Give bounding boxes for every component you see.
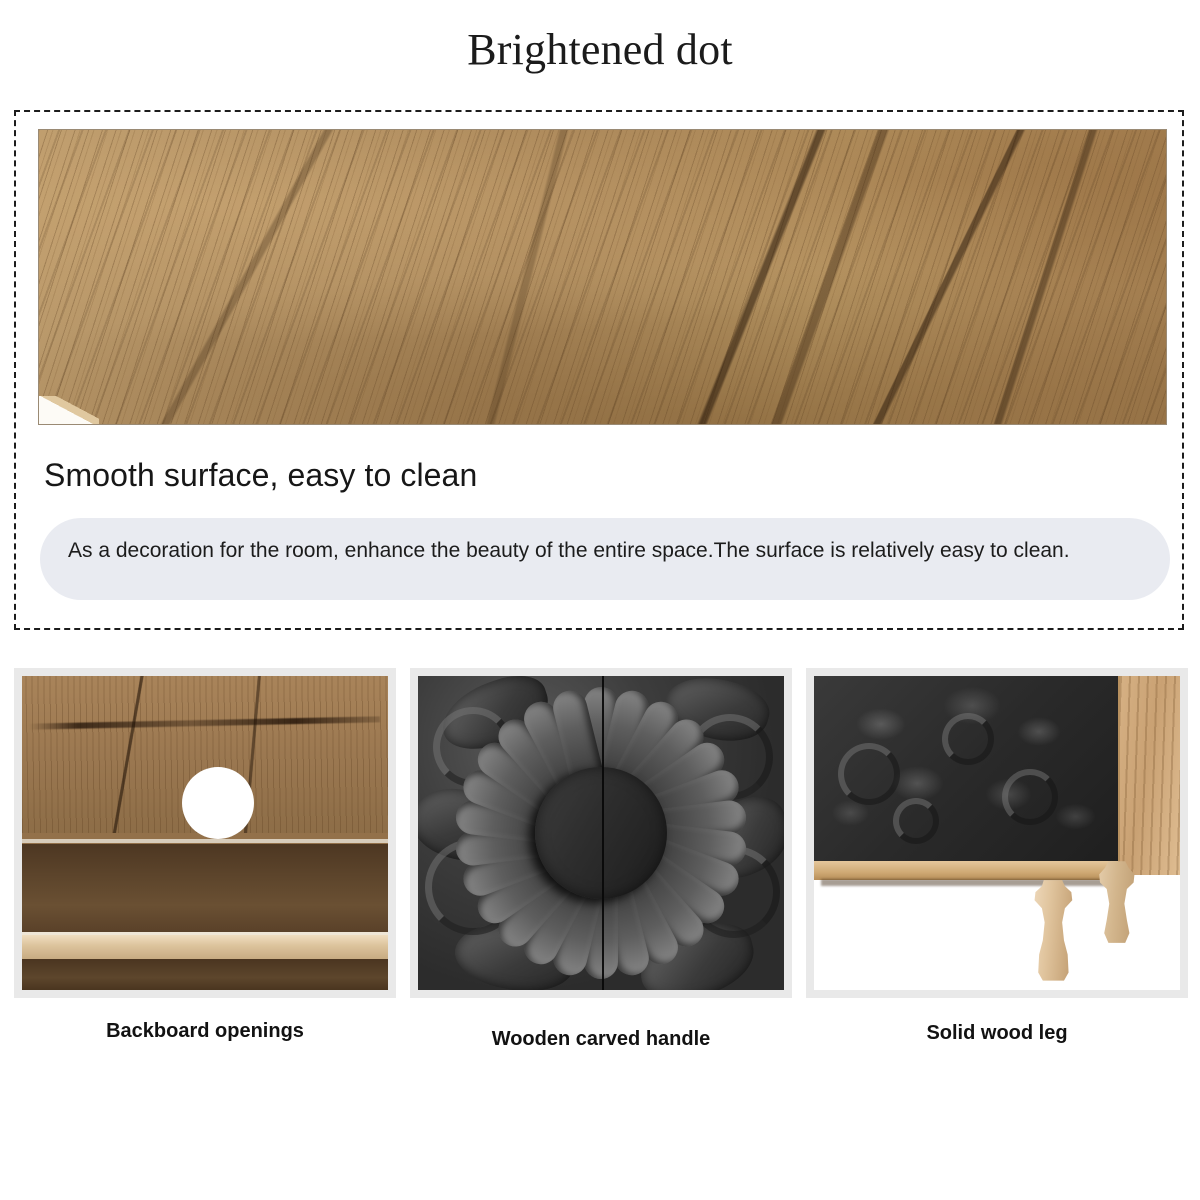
feature-heading: Smooth surface, easy to clean bbox=[44, 457, 477, 494]
cabinet-bottom-lip bbox=[814, 861, 1118, 880]
detail-card-wooden-carved-handle: Wooden carved handle bbox=[410, 668, 792, 1068]
carved-scroll-icon bbox=[838, 743, 900, 805]
cabinet-corner-scene bbox=[814, 676, 1180, 990]
hero-wood-image bbox=[38, 129, 1167, 425]
detail-card-solid-wood-leg: Solid wood leg bbox=[806, 668, 1188, 1068]
light-wood-shelf-edge bbox=[22, 932, 388, 959]
page-title: Brightened dot bbox=[0, 24, 1200, 75]
cable-opening-hole bbox=[182, 767, 254, 839]
cabinet-lip-shadow bbox=[821, 879, 1117, 886]
backboard-openings-photo bbox=[14, 668, 396, 998]
detail-cards-row: Backboard openings bbox=[14, 668, 1189, 1068]
wood-leg-front bbox=[1030, 880, 1076, 980]
solid-wood-leg-photo bbox=[806, 668, 1188, 998]
wood-grain-texture bbox=[38, 129, 1167, 425]
wood-edge-highlight bbox=[39, 396, 99, 424]
wood-leg-rear bbox=[1096, 861, 1138, 943]
carved-scroll-icon bbox=[1002, 769, 1058, 825]
lower-dark-panel bbox=[22, 959, 388, 990]
infographic-page: Brightened dot Smooth surface, easy to c… bbox=[0, 0, 1200, 1200]
shelf-seam-line bbox=[22, 839, 388, 843]
feature-description-text: As a decoration for the room, enhance th… bbox=[68, 534, 1142, 568]
shelf-recess-shadow bbox=[22, 844, 388, 932]
card-caption-leg: Solid wood leg bbox=[806, 1022, 1188, 1045]
door-seam-line bbox=[602, 676, 604, 990]
card-caption-backboard: Backboard openings bbox=[14, 1020, 396, 1043]
carved-handle-photo bbox=[410, 668, 792, 998]
carved-scroll-icon bbox=[893, 798, 939, 844]
detail-card-backboard-openings: Backboard openings bbox=[14, 668, 396, 1068]
card-caption-handle: Wooden carved handle bbox=[410, 1028, 792, 1051]
cabinet-side-panel bbox=[1118, 676, 1180, 875]
carved-scroll-icon bbox=[942, 713, 994, 765]
feature-description-pill: As a decoration for the room, enhance th… bbox=[40, 518, 1170, 600]
carved-door-panel bbox=[814, 676, 1118, 861]
feature-panel: Smooth surface, easy to clean As a decor… bbox=[14, 110, 1184, 630]
